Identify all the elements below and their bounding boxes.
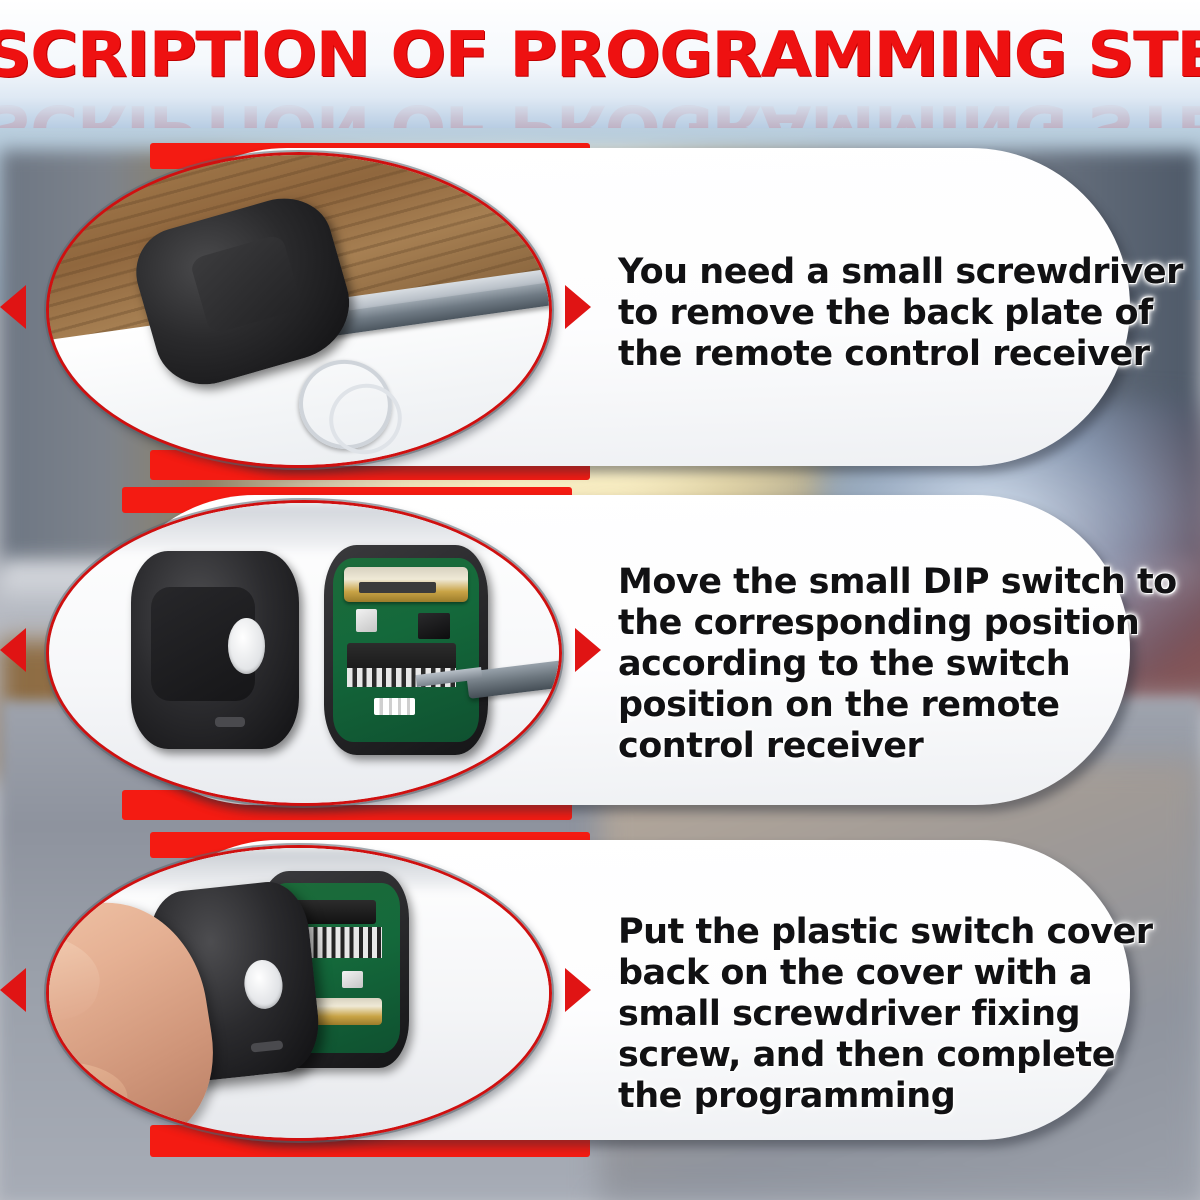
battery: [344, 567, 467, 602]
step-1-text: You need a small screwdriver to remove t…: [618, 252, 1183, 375]
capacitor: [356, 609, 377, 631]
step-3-photo: [46, 845, 552, 1141]
step-3-text: Put the plastic switch cover back on the…: [618, 912, 1153, 1117]
cover-slot: [215, 717, 245, 727]
page-title: DESCRIPTION OF PROGRAMMING STEPS: [0, 24, 1200, 86]
title-banner: DESCRIPTION OF PROGRAMMING STEPS DESCRIP…: [0, 0, 1200, 128]
fingers: [46, 1061, 129, 1132]
circuit-board: [333, 558, 480, 743]
board-connector: [374, 698, 415, 715]
step-1-photo: [46, 152, 552, 468]
infographic-root: DESCRIPTION OF PROGRAMMING STEPS DESCRIP…: [0, 0, 1200, 1200]
step-1-right-arrow-icon: [565, 285, 591, 329]
remote-back-shell: [324, 545, 487, 755]
thumb: [46, 925, 108, 1031]
capacitor: [342, 971, 363, 988]
step-2-text: Move the small DIP switch to the corresp…: [618, 562, 1177, 767]
step-2-right-arrow-icon: [575, 628, 601, 672]
step-3-left-arrow-icon: [0, 968, 26, 1012]
cover-slot: [250, 1040, 283, 1053]
step-2-photo: [46, 500, 562, 806]
step-2-left-arrow-icon: [0, 628, 26, 672]
step-1-left-arrow-icon: [0, 285, 26, 329]
chip: [418, 613, 450, 639]
battery-label: [359, 582, 435, 594]
key-fob-button-panel: [189, 234, 303, 335]
page-title-reflection: DESCRIPTION OF PROGRAMMING STEPS: [0, 96, 1200, 128]
remote-front-cover: [131, 551, 299, 749]
cover-round-button: [228, 618, 265, 673]
step-3-right-arrow-icon: [565, 968, 591, 1012]
photo-background-blur: [49, 503, 559, 551]
cover-round-button: [242, 957, 285, 1010]
